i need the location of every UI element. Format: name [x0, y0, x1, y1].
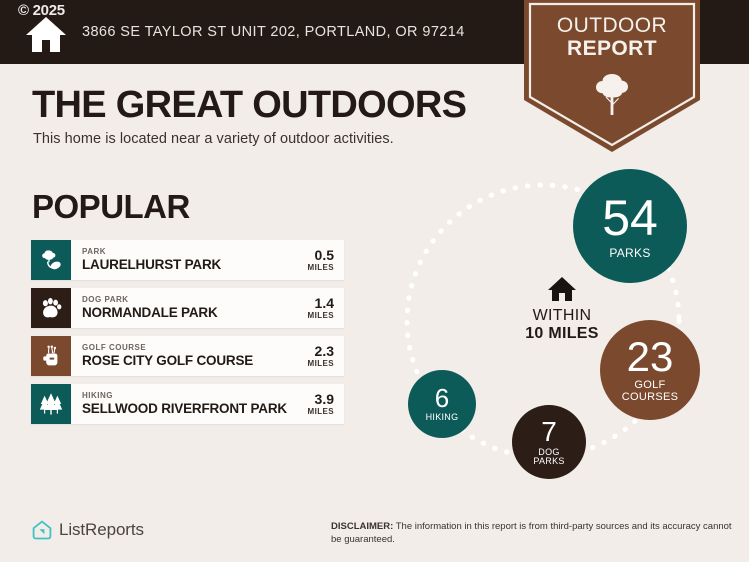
list-item-name: SELLWOOD RIVERFRONT PARK: [82, 401, 308, 417]
park-icon: [31, 240, 71, 280]
distance-unit: MILES: [308, 359, 334, 369]
outdoor-report-page: © 2025 3866 SE TAYLOR ST UNIT 202, PORTL…: [0, 0, 749, 562]
diagram-center-label: WITHIN 10 MILES: [482, 275, 642, 343]
list-item[interactable]: HIKING SELLWOOD RIVERFRONT PARK 3.9 MILE…: [31, 384, 344, 424]
pine-trees-icon: [31, 384, 71, 424]
bubble-parks-label: PARKS: [609, 247, 650, 260]
list-item-text: PARK LAURELHURST PARK: [71, 240, 308, 280]
list-item-category: HIKING: [82, 391, 308, 401]
tree-icon: [593, 72, 631, 116]
disclaimer: DISCLAIMER: The information in this repo…: [331, 521, 741, 546]
listreports-logo-text: ListReports: [59, 520, 144, 540]
bubble-hiking-label: HIKING: [426, 413, 459, 422]
list-item[interactable]: DOG PARK NORMANDALE PARK 1.4 MILES: [31, 288, 344, 328]
amenities-circle-diagram: 54 PARKS 23 GOLF COURSES 7 DOG PARKS 6 H…: [390, 160, 730, 490]
popular-section-title: POPULAR: [32, 188, 190, 226]
disclaimer-label: DISCLAIMER:: [331, 521, 393, 532]
distance-unit: MILES: [308, 263, 334, 273]
list-item-distance: 0.5 MILES: [308, 240, 344, 280]
copyright-text: © 2025: [18, 2, 65, 19]
banner-title: OUTDOOR REPORT: [524, 14, 700, 60]
distance-value: 0.5: [315, 248, 334, 263]
list-item-category: PARK: [82, 247, 308, 257]
list-item-name: NORMANDALE PARK: [82, 305, 308, 321]
list-item-text: GOLF COURSE ROSE CITY GOLF COURSE: [71, 336, 308, 376]
list-item-category: DOG PARK: [82, 295, 308, 305]
list-item-distance: 2.3 MILES: [308, 336, 344, 376]
list-item-distance: 3.9 MILES: [308, 384, 344, 424]
distance-value: 1.4: [315, 296, 334, 311]
bubble-dog-count: 7: [541, 418, 557, 446]
center-label-line1: WITHIN: [482, 307, 642, 325]
bubble-dog-label-line2: PARKS: [533, 457, 564, 466]
bubble-parks[interactable]: 54 PARKS: [573, 169, 687, 283]
list-item-text: HIKING SELLWOOD RIVERFRONT PARK: [71, 384, 308, 424]
outdoor-report-banner: OUTDOOR REPORT: [524, 0, 700, 152]
list-item-name: ROSE CITY GOLF COURSE: [82, 353, 308, 369]
distance-unit: MILES: [308, 407, 334, 417]
bubble-parks-count: 54: [602, 193, 658, 243]
golf-bag-icon: [31, 336, 71, 376]
bubble-hiking-count: 6: [435, 385, 449, 411]
distance-value: 3.9: [315, 392, 334, 407]
listreports-logo[interactable]: ListReports: [32, 520, 144, 540]
list-item[interactable]: PARK LAURELHURST PARK 0.5 MILES: [31, 240, 344, 280]
page-subtitle: This home is located near a variety of o…: [33, 131, 394, 147]
popular-places-list: PARK LAURELHURST PARK 0.5 MILES DOG PARK: [31, 240, 344, 432]
listreports-logo-icon: [32, 520, 52, 540]
page-title: THE GREAT OUTDOORS: [32, 84, 466, 126]
banner-title-line2: REPORT: [524, 37, 700, 60]
house-icon: [24, 14, 68, 54]
list-item-name: LAURELHURST PARK: [82, 257, 308, 273]
bubble-dog-parks[interactable]: 7 DOG PARKS: [512, 405, 586, 479]
distance-unit: MILES: [308, 311, 334, 321]
list-item-text: DOG PARK NORMANDALE PARK: [71, 288, 308, 328]
paw-icon: [31, 288, 71, 328]
house-icon: [547, 275, 577, 303]
center-label-line2: 10 MILES: [482, 325, 642, 343]
list-item-distance: 1.4 MILES: [308, 288, 344, 328]
list-item-category: GOLF COURSE: [82, 343, 308, 353]
distance-value: 2.3: [315, 344, 334, 359]
bubble-hiking[interactable]: 6 HIKING: [408, 370, 476, 438]
banner-title-line1: OUTDOOR: [524, 14, 700, 37]
bubble-golf-label-line2: COURSES: [622, 392, 679, 404]
property-address: 3866 SE TAYLOR ST UNIT 202, PORTLAND, OR…: [82, 24, 465, 40]
list-item[interactable]: GOLF COURSE ROSE CITY GOLF COURSE 2.3 MI…: [31, 336, 344, 376]
